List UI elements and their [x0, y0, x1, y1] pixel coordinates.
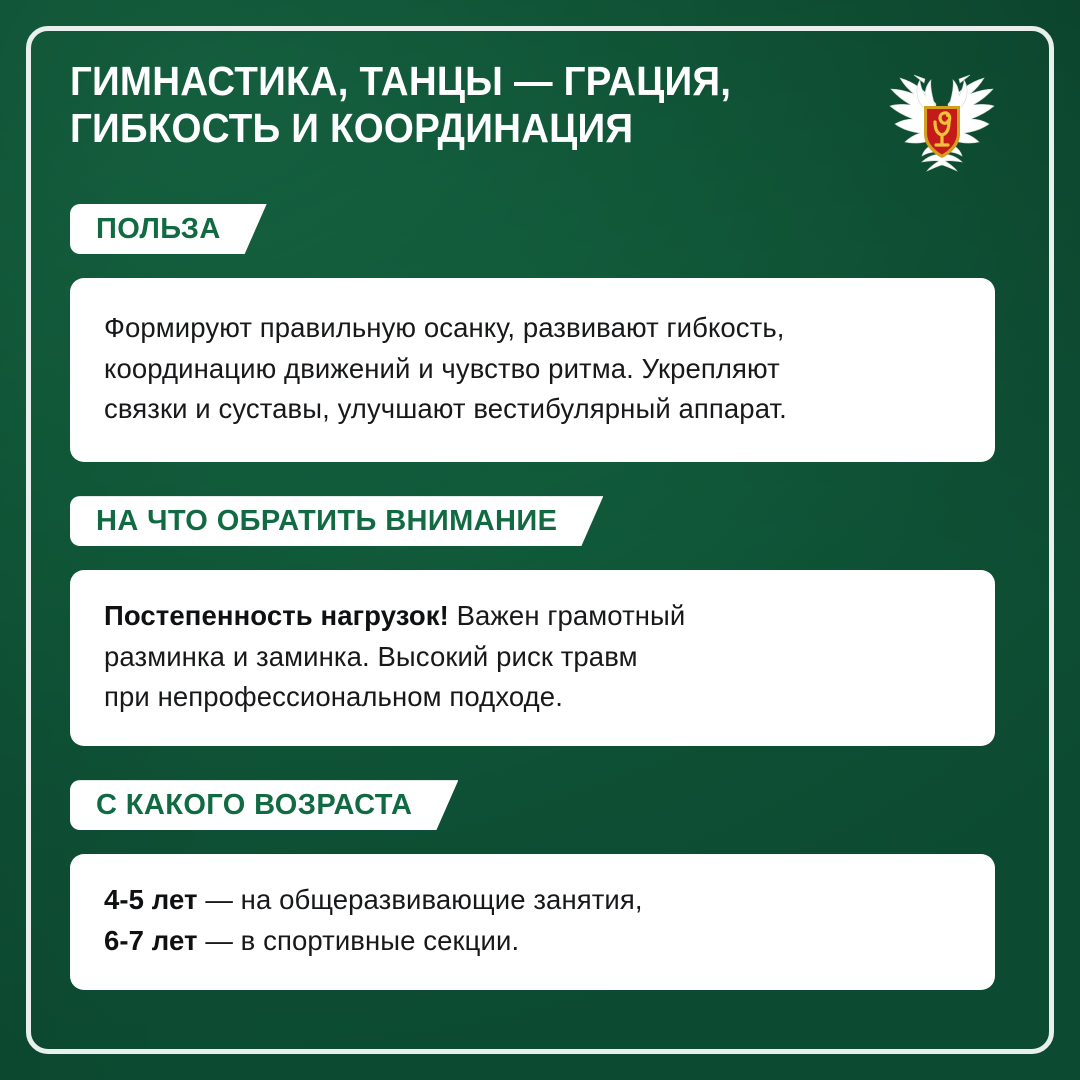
section-card-benefit: Формируют правильную осанку, развивают г… — [70, 278, 995, 462]
card-line: Постепенность нагрузок! Важен грамотный — [104, 596, 961, 637]
section-badge-attention: НА ЧТО ОБРАТИТЬ ВНИМАНИЕ — [70, 496, 603, 546]
poster-header: ГИМНАСТИКА, ТАНЦЫ — ГРАЦИЯ, ГИБКОСТЬ И К… — [70, 58, 1010, 176]
double-headed-eagle-medical-emblem — [878, 60, 1006, 176]
infographic-poster: ГИМНАСТИКА, ТАНЦЫ — ГРАЦИЯ, ГИБКОСТЬ И К… — [0, 0, 1080, 1080]
page-title: ГИМНАСТИКА, ТАНЦЫ — ГРАЦИЯ, ГИБКОСТЬ И К… — [70, 58, 731, 151]
card-line-emphasis: 6-7 лет — [104, 925, 198, 956]
section-badge-age: С КАКОГО ВОЗРАСТА — [70, 780, 458, 830]
card-line: координацию движений и чувство ритма. Ук… — [104, 349, 961, 390]
section-age: С КАКОГО ВОЗРАСТА 4-5 лет — на общеразви… — [70, 780, 1010, 989]
card-line: Формируют правильную осанку, развивают г… — [104, 308, 961, 349]
section-benefit: ПОЛЬЗА Формируют правильную осанку, разв… — [70, 204, 1010, 462]
badge-row: НА ЧТО ОБРАТИТЬ ВНИМАНИЕ — [70, 496, 1010, 546]
card-line-text: Важен грамотный — [449, 600, 686, 631]
card-line-text: — на общеразвивающие занятия, — [198, 884, 643, 915]
card-line: 4-5 лет — на общеразвивающие занятия, — [104, 880, 961, 921]
card-line: разминка и заминка. Высокий риск травм — [104, 637, 961, 678]
poster-content: ГИМНАСТИКА, ТАНЦЫ — ГРАЦИЯ, ГИБКОСТЬ И К… — [0, 0, 1080, 1080]
card-line: связки и суставы, улучшают вестибулярный… — [104, 389, 961, 430]
card-line-text: — в спортивные секции. — [198, 925, 520, 956]
section-card-age: 4-5 лет — на общеразвивающие занятия, 6-… — [70, 854, 995, 989]
card-line-emphasis: 4-5 лет — [104, 884, 198, 915]
badge-row: С КАКОГО ВОЗРАСТА — [70, 780, 1010, 830]
card-line-emphasis: Постепенность нагрузок! — [104, 600, 449, 631]
card-line: 6-7 лет — в спортивные секции. — [104, 921, 961, 962]
section-card-attention: Постепенность нагрузок! Важен грамотный … — [70, 570, 995, 746]
section-badge-benefit: ПОЛЬЗА — [70, 204, 267, 254]
card-line: при непрофессиональном подходе. — [104, 677, 961, 718]
section-attention: НА ЧТО ОБРАТИТЬ ВНИМАНИЕ Постепенность н… — [70, 496, 1010, 746]
badge-row: ПОЛЬЗА — [70, 204, 1010, 254]
